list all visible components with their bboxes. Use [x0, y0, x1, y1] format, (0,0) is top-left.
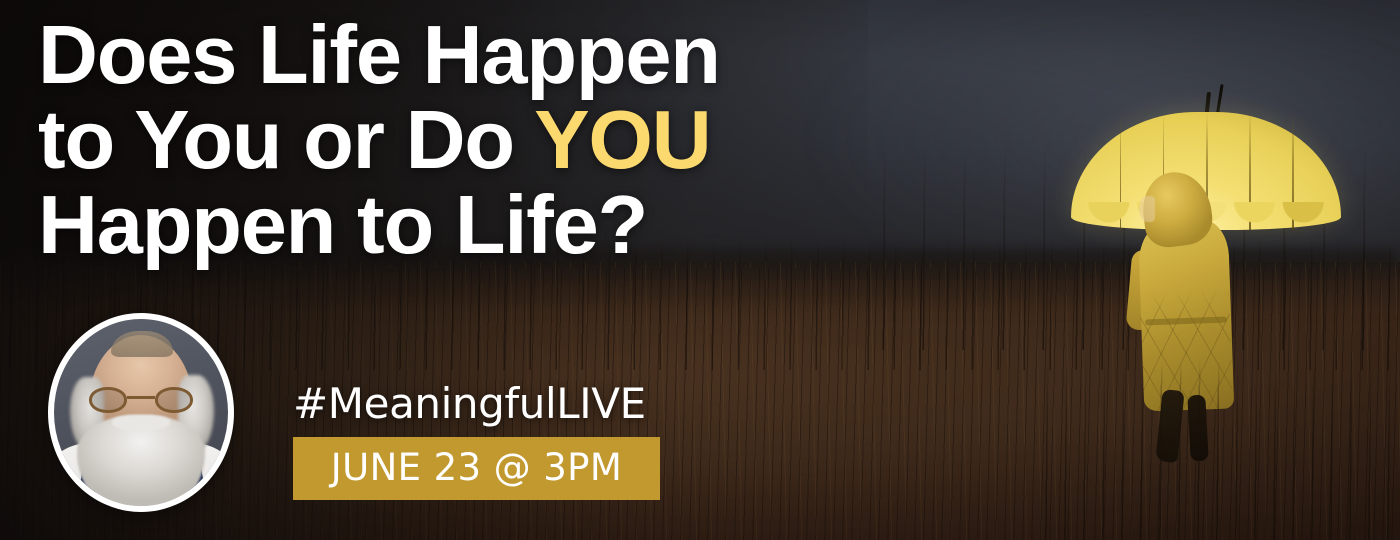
date-badge: JUNE 23 @ 3PM — [293, 437, 660, 500]
avatar-portrait — [54, 319, 228, 506]
headline-line-2-text: to You or Do — [38, 93, 534, 186]
portrait-mustache — [112, 415, 170, 431]
hashtag-label: #MeaningfulLIVE — [293, 381, 646, 427]
avatar — [48, 313, 234, 512]
headline-line-1: Does Life Happen — [38, 12, 958, 97]
event-promo-banner: Does Life Happen to You or Do YOU Happen… — [0, 0, 1400, 540]
portrait-kippah — [111, 331, 173, 357]
headline: Does Life Happen to You or Do YOU Happen… — [38, 12, 958, 267]
date-badge-text: JUNE 23 @ 3PM — [331, 446, 622, 489]
headline-accent-you: YOU — [534, 93, 710, 186]
glasses-icon — [89, 387, 193, 413]
headline-line-2: to You or Do YOU — [38, 97, 958, 182]
headline-line-3: Happen to Life? — [38, 182, 958, 267]
